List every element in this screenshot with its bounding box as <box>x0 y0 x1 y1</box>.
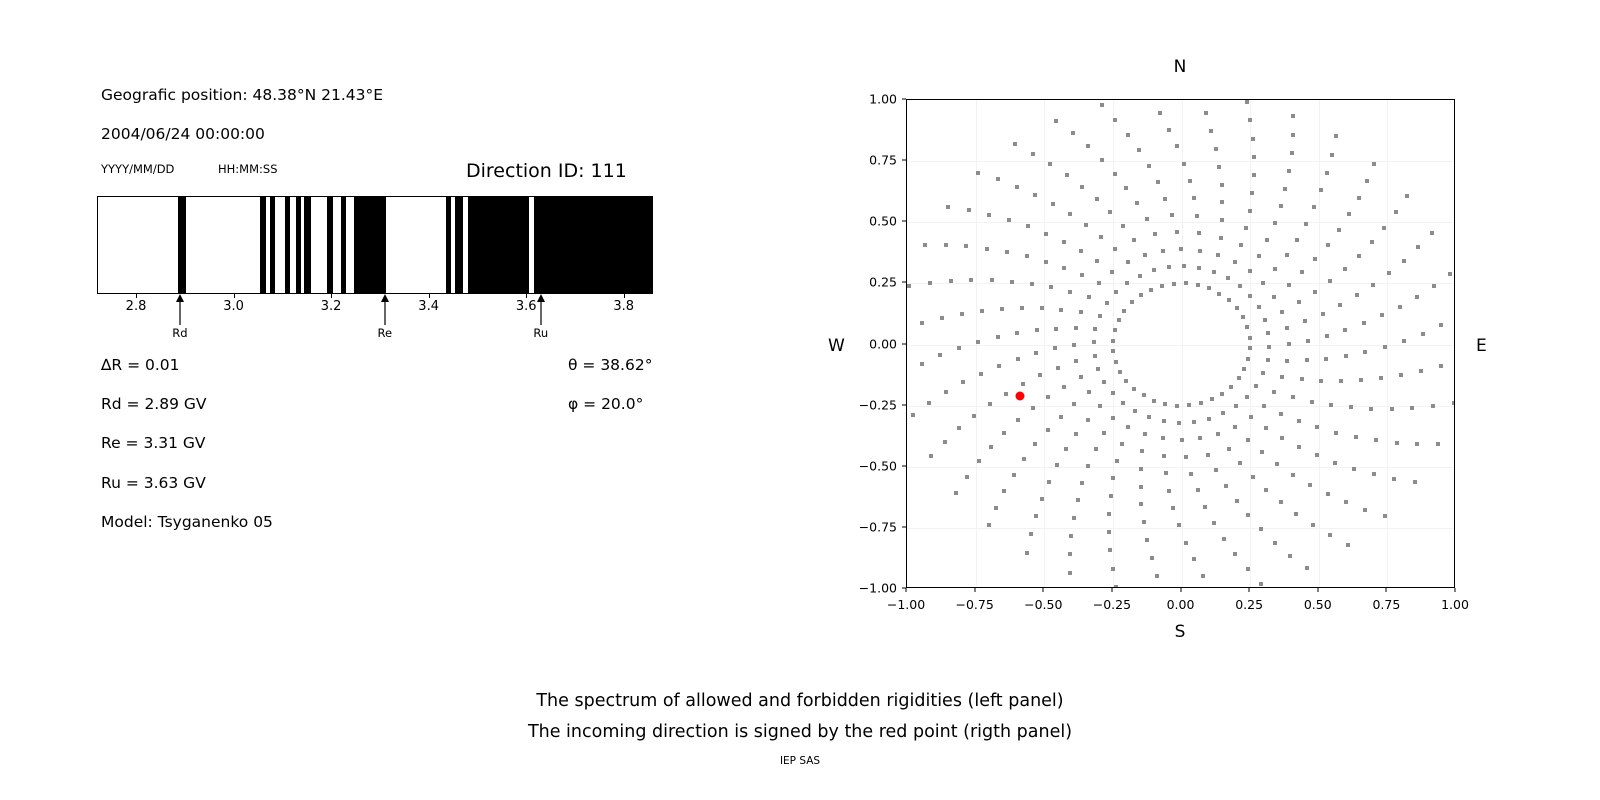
direction-point <box>1371 283 1375 287</box>
direction-point <box>1107 512 1111 516</box>
direction-point <box>1126 425 1130 429</box>
direction-point <box>1210 397 1214 401</box>
x-axis-tick-mark <box>1455 588 1456 592</box>
direction-point <box>1156 180 1160 184</box>
x-axis-tick-label: 0.25 <box>1235 597 1263 612</box>
direction-point <box>1303 319 1307 323</box>
direction-point <box>1068 571 1072 575</box>
direction-point <box>1297 445 1301 449</box>
direction-point <box>1349 405 1353 409</box>
param-model: Model: Tsyganenko 05 <box>101 513 273 531</box>
direction-point <box>1310 400 1314 404</box>
direction-point <box>1452 401 1455 405</box>
direction-point <box>1249 415 1253 419</box>
direction-point <box>949 279 953 283</box>
direction-point <box>1369 407 1373 411</box>
direction-point <box>1334 431 1338 435</box>
direction-point <box>923 243 927 247</box>
direction-point <box>1321 312 1325 316</box>
direction-point <box>1224 484 1228 488</box>
direction-point <box>1259 582 1263 586</box>
direction-point <box>1069 534 1073 538</box>
direction-point <box>1163 402 1167 406</box>
x-axis-tick-mark <box>1043 588 1044 592</box>
gridline-vertical <box>1182 100 1183 587</box>
direction-point <box>954 491 958 495</box>
direction-point <box>1192 420 1196 424</box>
direction-point <box>1288 554 1292 558</box>
x-axis-tick-label: −0.75 <box>955 597 993 612</box>
direction-point <box>1149 288 1153 292</box>
x-axis-tick-label: −1.00 <box>887 597 925 612</box>
direction-point <box>1209 129 1213 133</box>
direction-point <box>920 362 924 366</box>
direction-point <box>929 454 933 458</box>
y-axis-tick-mark <box>902 99 906 100</box>
rigidity-spectrum-panel: Geografic position: 48.38°N 21.43°E 2004… <box>0 0 800 660</box>
gridline-horizontal <box>907 222 1454 223</box>
direction-point <box>1059 415 1063 419</box>
direction-point <box>1062 266 1066 270</box>
direction-point <box>1220 392 1224 396</box>
direction-point <box>1098 314 1102 318</box>
direction-point <box>1254 384 1258 388</box>
y-axis-tick-mark <box>902 526 906 527</box>
direction-point <box>1086 418 1090 422</box>
direction-point <box>1084 223 1088 227</box>
direction-point <box>1439 323 1443 327</box>
y-axis-tick-mark <box>902 282 906 283</box>
direction-point <box>1175 230 1179 234</box>
direction-point <box>1029 532 1033 536</box>
direction-point <box>1275 462 1279 466</box>
direction-point <box>1062 240 1066 244</box>
direction-point <box>1259 527 1263 531</box>
gridline-vertical <box>1044 100 1045 587</box>
y-axis-tick-label: 0.75 <box>869 153 897 168</box>
direction-point <box>1328 533 1332 537</box>
direction-point <box>1111 416 1115 420</box>
direction-point <box>1402 339 1406 343</box>
direction-point <box>1048 162 1052 166</box>
direction-point <box>1147 164 1151 168</box>
direction-point <box>1308 483 1312 487</box>
direction-point <box>1135 201 1139 205</box>
direction-point <box>1365 179 1369 183</box>
direction-point <box>920 321 924 325</box>
direction-point <box>1374 438 1378 442</box>
direction-point <box>1273 267 1277 271</box>
direction-point <box>1221 411 1225 415</box>
spectrum-axis-tick <box>429 294 430 298</box>
caption-line-2: The incoming direction is signed by the … <box>0 717 1600 748</box>
direction-point <box>1126 133 1130 137</box>
direction-point <box>1416 245 1420 249</box>
direction-point <box>1241 315 1245 319</box>
direction-point <box>1334 134 1338 138</box>
direction-point <box>1051 202 1055 206</box>
direction-point <box>1121 401 1125 405</box>
direction-point <box>1062 385 1066 389</box>
direction-point <box>1074 432 1078 436</box>
direction-point <box>1080 273 1084 277</box>
direction-point <box>1431 404 1435 408</box>
direction-point <box>1214 147 1218 151</box>
direction-point <box>1117 318 1121 322</box>
direction-point <box>1439 364 1443 368</box>
direction-point <box>1013 142 1017 146</box>
direction-point <box>1068 552 1072 556</box>
direction-point <box>1118 370 1122 374</box>
direction-point <box>1110 270 1114 274</box>
direction-point <box>1415 442 1419 446</box>
direction-point <box>1344 354 1348 358</box>
direction-point <box>1248 209 1252 213</box>
direction-point <box>1177 523 1181 527</box>
direction-point <box>1020 306 1024 310</box>
direction-point <box>1260 450 1264 454</box>
direction-point <box>1325 171 1329 175</box>
direction-point <box>1212 270 1216 274</box>
direction-point <box>1204 111 1208 115</box>
direction-point <box>1265 238 1269 242</box>
direction-point <box>1261 371 1265 375</box>
direction-point <box>1272 295 1276 299</box>
spectrum-axis-tick <box>234 294 235 298</box>
direction-point <box>1021 382 1025 386</box>
direction-point <box>1432 284 1436 288</box>
direction-point <box>976 340 980 344</box>
spectrum-axis-tick-label: 3.4 <box>418 299 439 314</box>
direction-point <box>1015 331 1019 335</box>
direction-point <box>1102 380 1106 384</box>
direction-point <box>1002 489 1006 493</box>
direction-point <box>1248 294 1252 298</box>
direction-point <box>1238 284 1242 288</box>
compass-label-north: N <box>1174 57 1187 77</box>
direction-point <box>1273 541 1277 545</box>
spectrum-axis-tick <box>624 294 625 298</box>
direction-point <box>1121 224 1125 228</box>
direction-point <box>1272 390 1276 394</box>
direction-point <box>1343 328 1347 332</box>
direction-point <box>1180 438 1184 442</box>
direction-point <box>1177 421 1181 425</box>
direction-point <box>1344 500 1348 504</box>
direction-point <box>1086 464 1090 468</box>
direction-point <box>1113 328 1117 332</box>
direction-point <box>964 244 968 248</box>
direction-point <box>1239 243 1243 247</box>
forbidden-band <box>354 197 386 293</box>
direction-point <box>1392 477 1396 481</box>
direction-point <box>1182 162 1186 166</box>
direction-point <box>1164 471 1168 475</box>
direction-point <box>1394 210 1398 214</box>
y-axis-tick-mark <box>902 221 906 222</box>
direction-point <box>938 353 942 357</box>
direction-point <box>1139 502 1143 506</box>
rigidity-marker-label-re: Re <box>377 326 392 340</box>
direction-point <box>965 475 969 479</box>
direction-point <box>1330 153 1334 157</box>
direction-point <box>1055 463 1059 467</box>
spectrum-x-axis: 2.83.03.23.43.63.8RdReRu <box>97 294 653 344</box>
direction-point <box>994 506 998 510</box>
direction-point <box>1217 292 1221 296</box>
direction-point <box>1399 373 1403 377</box>
direction-point <box>907 284 911 288</box>
direction-point <box>1216 253 1220 257</box>
direction-point <box>1343 267 1347 271</box>
direction-point <box>1175 404 1179 408</box>
direction-point <box>996 335 1000 339</box>
y-axis-tick-mark <box>902 404 906 405</box>
direction-point <box>1114 585 1118 588</box>
gridline-horizontal <box>907 528 1454 529</box>
direction-point <box>1111 476 1115 480</box>
direction-point <box>1147 415 1151 419</box>
direction-point <box>1430 231 1434 235</box>
direction-point <box>1338 303 1342 307</box>
direction-point <box>1162 419 1166 423</box>
direction-point <box>1297 300 1301 304</box>
forbidden-band <box>296 197 301 293</box>
direction-point <box>988 402 992 406</box>
direction-point <box>987 213 991 217</box>
direction-point <box>1080 185 1084 189</box>
direction-point <box>928 281 932 285</box>
incoming-direction-panel: N S W E −1.00−0.75−0.50−0.250.000.250.50… <box>800 0 1600 660</box>
compass-label-west: W <box>828 336 845 356</box>
y-axis-tick-label: −1.00 <box>859 581 897 596</box>
param-theta: θ = 38.62° <box>568 356 652 374</box>
direction-point <box>1111 339 1115 343</box>
direction-point <box>1139 293 1143 297</box>
direction-point <box>1421 332 1425 336</box>
rigidity-marker-arrow-ru <box>532 292 550 326</box>
direction-point <box>1246 438 1250 442</box>
direction-point <box>1035 328 1039 332</box>
y-axis-tick-mark <box>902 465 906 466</box>
direction-point <box>1012 473 1016 477</box>
direction-point <box>1285 253 1289 257</box>
direction-point <box>1094 447 1098 451</box>
y-axis-tick-label: 0.50 <box>869 214 897 229</box>
direction-point <box>1252 155 1256 159</box>
direction-point <box>1100 158 1104 162</box>
direction-point <box>1244 226 1248 230</box>
direction-point <box>1319 379 1323 383</box>
direction-point <box>1395 441 1399 445</box>
spectrum-axis-tick-label: 3.8 <box>613 299 634 314</box>
direction-point <box>1160 284 1164 288</box>
direction-point <box>1220 200 1224 204</box>
direction-point <box>987 523 991 527</box>
direction-point <box>1387 271 1391 275</box>
direction-point <box>1025 254 1029 258</box>
x-axis-tick-label: 0.75 <box>1372 597 1400 612</box>
direction-point <box>1120 442 1124 446</box>
direction-point <box>1201 574 1205 578</box>
x-axis-tick-label: −0.50 <box>1024 597 1062 612</box>
direction-point <box>1436 442 1440 446</box>
direction-point <box>1111 391 1115 395</box>
x-axis-tick-mark <box>1317 588 1318 592</box>
direction-point <box>1266 358 1270 362</box>
direction-point <box>1113 247 1117 251</box>
direction-point <box>1448 272 1452 276</box>
direction-point <box>1235 499 1239 503</box>
direction-point <box>1250 191 1254 195</box>
direction-point <box>1279 500 1283 504</box>
direction-point <box>1179 247 1183 251</box>
forbidden-band <box>178 197 185 293</box>
direction-point <box>1000 307 1004 311</box>
direction-point <box>1111 567 1115 571</box>
direction-point <box>1076 498 1080 502</box>
direction-point <box>957 346 961 350</box>
direction-point <box>1109 494 1113 498</box>
direction-point <box>1216 432 1220 436</box>
direction-point <box>980 309 984 313</box>
direction-point <box>1068 212 1072 216</box>
forbidden-band <box>455 197 463 293</box>
direction-point <box>1291 473 1295 477</box>
direction-point <box>1315 453 1319 457</box>
direction-point <box>1107 530 1111 534</box>
direction-point <box>990 278 994 282</box>
y-axis-tick-mark <box>902 160 906 161</box>
direction-point <box>1235 306 1239 310</box>
direction-point <box>1124 186 1128 190</box>
direction-point <box>1362 321 1366 325</box>
direction-point <box>1096 367 1100 371</box>
direction-point <box>1313 257 1317 261</box>
direction-point <box>1113 172 1117 176</box>
direction-point <box>1245 395 1249 399</box>
direction-point <box>1087 390 1091 394</box>
direction-point <box>1015 185 1019 189</box>
direction-point <box>1257 254 1261 258</box>
direction-point <box>1016 357 1020 361</box>
direction-point <box>1162 454 1166 458</box>
direction-point <box>1074 359 1078 363</box>
direction-point <box>1280 310 1284 314</box>
direction-point <box>1100 103 1104 107</box>
direction-point <box>1142 393 1146 397</box>
direction-point <box>1140 449 1144 453</box>
rigidity-marker-label-ru: Ru <box>533 326 548 340</box>
direction-point <box>969 278 973 282</box>
direction-point <box>1238 461 1242 465</box>
direction-point <box>1264 488 1268 492</box>
spectrum-axis-tick-label: 2.8 <box>126 299 147 314</box>
forbidden-band <box>468 197 529 293</box>
spectrum-axis-tick <box>526 294 527 298</box>
y-axis-tick-label: −0.75 <box>859 519 897 534</box>
direction-point <box>1071 131 1075 135</box>
direction-point <box>1337 228 1341 232</box>
direction-point <box>1132 387 1136 391</box>
direction-point <box>1022 457 1026 461</box>
forbidden-band <box>341 197 346 293</box>
direction-point <box>1347 212 1351 216</box>
forbidden-band <box>304 197 311 293</box>
direction-point <box>1300 270 1304 274</box>
direction-point <box>1206 453 1210 457</box>
y-axis-tick-label: 0.00 <box>869 336 897 351</box>
direction-point <box>1328 279 1332 283</box>
direction-point <box>1295 238 1299 242</box>
direction-point <box>1092 340 1096 344</box>
direction-point <box>1099 235 1103 239</box>
direction-point <box>1049 285 1053 289</box>
direction-point <box>1352 467 1356 471</box>
x-axis-tick-label: 1.00 <box>1441 597 1469 612</box>
direction-point <box>989 445 993 449</box>
direction-point <box>1044 232 1048 236</box>
direction-point <box>944 243 948 247</box>
direction-point <box>1287 283 1291 287</box>
direction-point <box>1145 538 1149 542</box>
direction-point <box>1220 183 1224 187</box>
direction-point <box>1279 204 1283 208</box>
direction-point <box>1290 151 1294 155</box>
direction-point <box>1002 431 1006 435</box>
forbidden-band <box>260 197 266 293</box>
param-delta-r: ∆R = 0.01 <box>101 356 180 374</box>
direction-point <box>1233 260 1237 264</box>
direction-point <box>1145 217 1149 221</box>
gridline-horizontal <box>907 345 1454 346</box>
direction-point <box>1004 392 1008 396</box>
direction-point <box>1086 144 1090 148</box>
direction-point <box>1248 346 1252 350</box>
direction-point <box>961 380 965 384</box>
time-format-hint: HH:MM:SS <box>218 162 278 176</box>
direction-point <box>1212 521 1216 525</box>
direction-point <box>1195 214 1199 218</box>
direction-point <box>1222 537 1226 541</box>
x-axis-tick-mark <box>1111 588 1112 592</box>
direction-point <box>1197 266 1201 270</box>
spectrum-axis-tick-label: 3.0 <box>223 299 244 314</box>
direction-point <box>1398 305 1402 309</box>
direction-point <box>1372 162 1376 166</box>
compass-label-east: E <box>1476 336 1487 356</box>
direction-point <box>1229 385 1233 389</box>
direction-point <box>1007 218 1011 222</box>
direction-point <box>1326 492 1330 496</box>
rigidity-marker-label-rd: Rd <box>172 326 187 340</box>
direction-point <box>1266 331 1270 335</box>
direction-point <box>1079 249 1083 253</box>
direction-point <box>976 171 980 175</box>
direction-point <box>1280 436 1284 440</box>
direction-point <box>1379 376 1383 380</box>
direction-point <box>1312 205 1316 209</box>
direction-point <box>1158 111 1162 115</box>
direction-point <box>1390 407 1394 411</box>
rigidity-spectrum-chart <box>97 196 653 294</box>
direction-point <box>1233 552 1237 556</box>
direction-point <box>1324 357 1328 361</box>
direction-point <box>1300 377 1304 381</box>
direction-point <box>1217 165 1221 169</box>
direction-point <box>927 401 931 405</box>
direction-point <box>1291 133 1295 137</box>
